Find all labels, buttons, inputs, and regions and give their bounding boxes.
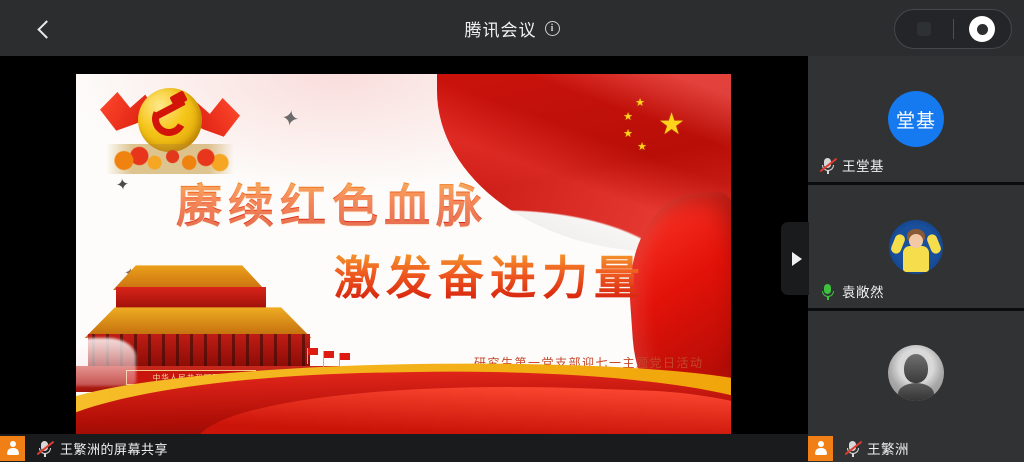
camera-icon: [917, 22, 931, 36]
party-emblem-icon: [100, 82, 240, 177]
crane-bird-icon: ✦: [115, 177, 130, 194]
avatar-photo-image: [888, 345, 944, 401]
star-icon: ★: [658, 110, 685, 140]
top-bar: 腾讯会议 i: [0, 0, 1024, 56]
fountain-decoration: [76, 338, 136, 386]
shared-slide: ★ ★ ★ ★ ★ ✦ ✦ ✦ 赓续红色血脉 激发奋进力量 研究生: [76, 74, 731, 434]
flag-stars: ★ ★ ★ ★ ★: [613, 98, 693, 152]
screen-share-label: 王繁洲的屏幕共享: [60, 439, 168, 458]
avatar-cartoon-image: [889, 220, 943, 274]
info-circle-icon[interactable]: i: [545, 21, 560, 36]
hammer-sickle-emblem-icon: [138, 88, 202, 152]
mic-muted-icon: [820, 157, 835, 174]
participant-tile[interactable]: 堂基 王堂基: [808, 56, 1024, 182]
participant-name: 王堂基: [842, 155, 884, 175]
page-title: 腾讯会议: [465, 16, 537, 41]
screen-share-status-bar: 王繁洲的屏幕共享: [0, 434, 808, 462]
participant-name: 袁敞然: [842, 281, 884, 301]
participants-panel[interactable]: 堂基 王堂基 袁敞然: [808, 56, 1024, 434]
triangle-right-icon: [792, 252, 802, 266]
star-icon: ★: [623, 129, 633, 140]
meeting-window: 腾讯会议 i ★ ★ ★ ★ ★: [0, 0, 1024, 462]
mic-muted-icon[interactable]: [845, 440, 860, 457]
mic-muted-icon: [37, 440, 52, 457]
slide-headline-line-1: 赓续红色血脉: [176, 170, 488, 236]
expand-panel-button[interactable]: [781, 222, 809, 295]
shared-screen-stage[interactable]: ★ ★ ★ ★ ★ ✦ ✦ ✦ 赓续红色血脉 激发奋进力量 研究生: [0, 56, 808, 434]
participant-footer: 王堂基: [808, 154, 1024, 176]
avatar: [808, 311, 1024, 434]
crane-bird-icon: ✦: [280, 107, 301, 131]
meeting-controls-pill[interactable]: [894, 9, 1012, 49]
star-icon: ★: [637, 142, 647, 153]
participant-tile[interactable]: 袁敞然: [808, 182, 1024, 308]
record-dot-icon: [969, 16, 995, 42]
record-button[interactable]: [954, 16, 1012, 42]
host-person-icon: [0, 436, 25, 461]
camera-button[interactable]: [895, 22, 953, 36]
star-icon: ★: [635, 98, 645, 109]
avatar-initials: 堂基: [888, 91, 944, 147]
host-person-icon: [808, 436, 833, 461]
participant-name: 王繁洲: [867, 438, 909, 458]
participant-footer: 袁敞然: [808, 280, 1024, 302]
title-group: 腾讯会议 i: [0, 0, 1024, 56]
star-icon: ★: [623, 112, 633, 123]
mic-on-icon: [820, 283, 835, 300]
slide-headline-line-2: 激发奋进力量: [334, 242, 646, 308]
participant-tile[interactable]: [808, 308, 1024, 434]
self-participant-bar[interactable]: 王繁洲: [808, 434, 1024, 462]
